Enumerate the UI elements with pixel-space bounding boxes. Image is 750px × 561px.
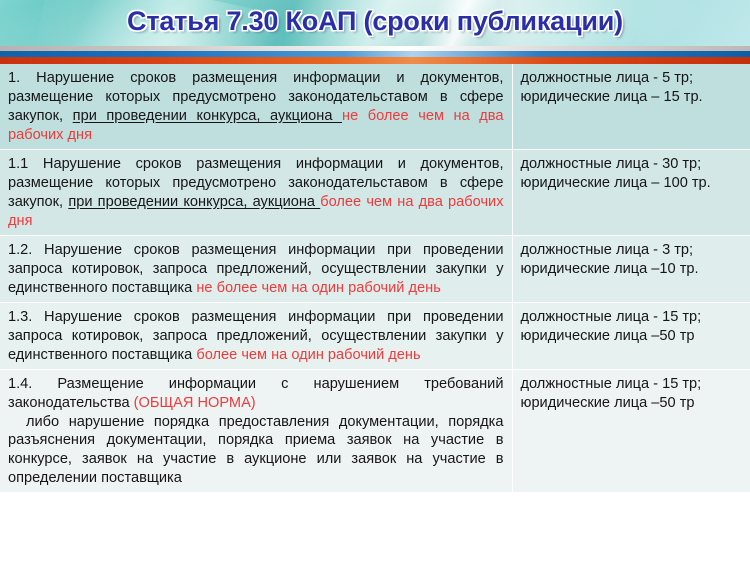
penalty-legal-entities: юридические лица –50 тр — [521, 327, 743, 346]
penalties-table: 1. Нарушение сроков размещения информаци… — [0, 64, 750, 493]
violation-description-cell: 1. Нарушение сроков размещения информаци… — [0, 64, 512, 149]
penalty-legal-entities: юридические лица –10 тр. — [521, 260, 743, 279]
violation-paragraph-1: 1.4. Размещение информации с нарушением … — [8, 375, 504, 413]
penalty-legal-entities: юридические лица –50 тр — [521, 394, 743, 413]
violation-text-secondary: либо нарушение порядка предоставления до… — [8, 414, 504, 487]
violation-text-underlined: при проведении конкурса, аукциона — [68, 194, 320, 210]
slide-root: Статья 7.30 КоАП (сроки публикации) 1. Н… — [0, 0, 750, 561]
penalty-officials: должностные лица - 5 тр; — [521, 69, 743, 88]
penalty-legal-entities: юридические лица – 15 тр. — [521, 88, 743, 107]
penalty-cell: должностные лица - 15 тр; юридические ли… — [512, 369, 750, 493]
table-row: 1.2. Нарушение сроков размещения информа… — [0, 235, 750, 302]
penalty-cell: должностные лица - 30 тр; юридические ли… — [512, 149, 750, 235]
table-row: 1.3. Нарушение сроков размещения информа… — [0, 302, 750, 369]
penalty-officials: должностные лица - 15 тр; — [521, 308, 743, 327]
violation-paragraph-2: либо нарушение порядка предоставления до… — [8, 413, 504, 489]
penalty-cell: должностные лица - 3 тр; юридические лиц… — [512, 235, 750, 302]
penalty-officials: должностные лица - 30 тр; — [521, 155, 743, 174]
flag-stripe-red — [0, 57, 750, 64]
violation-description-cell: 1.1 Нарушение сроков размещения информац… — [0, 149, 512, 235]
violation-description-cell: 1.4. Размещение информации с нарушением … — [0, 369, 512, 493]
violation-text-underlined: при проведении конкурса, аукциона — [73, 108, 342, 124]
violation-text-highlight: (ОБЩАЯ НОРМА) — [134, 395, 256, 411]
table-row: 1.4. Размещение информации с нарушением … — [0, 369, 750, 493]
violation-description-cell: 1.2. Нарушение сроков размещения информа… — [0, 235, 512, 302]
table-row: 1.1 Нарушение сроков размещения информац… — [0, 149, 750, 235]
violation-text-plain: 1.4. Размещение информации с нарушением … — [8, 376, 504, 411]
page-title: Статья 7.30 КоАП (сроки публикации) — [0, 6, 750, 37]
table-row: 1. Нарушение сроков размещения информаци… — [0, 64, 750, 149]
penalty-cell: должностные лица - 15 тр; юридические ли… — [512, 302, 750, 369]
violation-text-highlight: не более чем на один рабочий день — [196, 280, 440, 296]
violation-text-highlight: более чем на один рабочий день — [196, 347, 420, 363]
penalty-officials: должностные лица - 3 тр; — [521, 241, 743, 260]
penalty-cell: должностные лица - 5 тр; юридические лиц… — [512, 64, 750, 149]
violation-description-cell: 1.3. Нарушение сроков размещения информа… — [0, 302, 512, 369]
penalty-legal-entities: юридические лица – 100 тр. — [521, 174, 743, 193]
penalty-officials: должностные лица - 15 тр; — [521, 375, 743, 394]
